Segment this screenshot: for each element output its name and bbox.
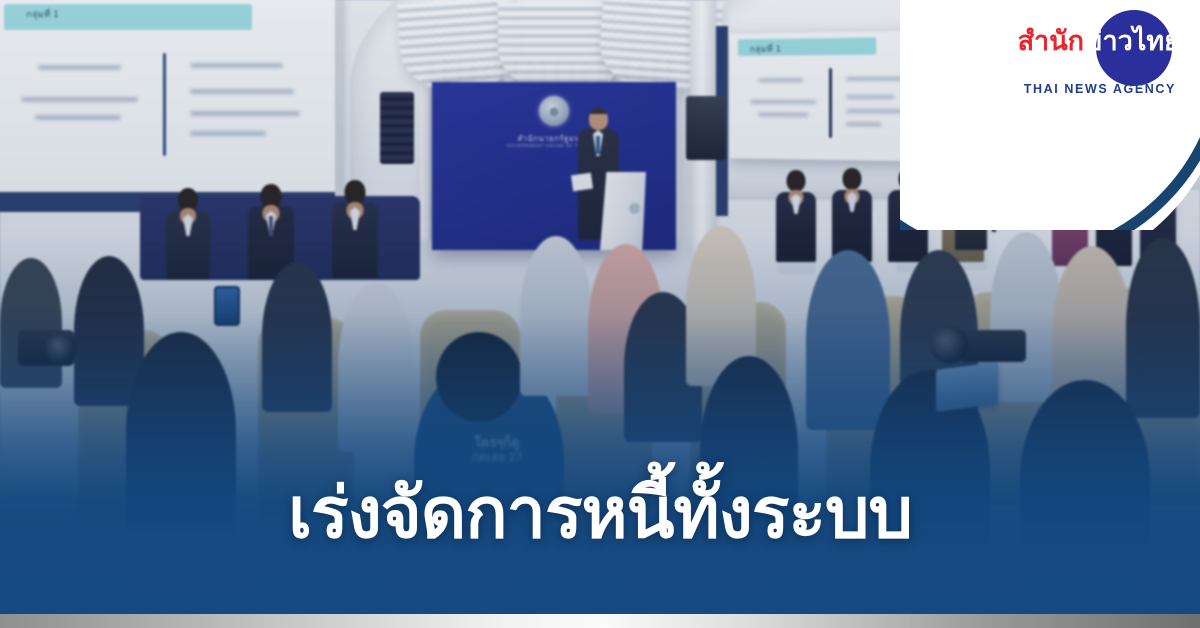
logo-english-text: THAI NEWS AGENCY xyxy=(1010,82,1176,96)
camera-lens-icon xyxy=(930,326,968,364)
stage-monitor xyxy=(686,96,726,160)
slide-text-line xyxy=(190,63,283,68)
audience-person xyxy=(262,262,332,412)
slide-title-right: กลุ่มที่ 1 xyxy=(750,41,781,55)
slide-divider xyxy=(163,53,166,156)
slide-text-line xyxy=(38,65,121,70)
panel-member xyxy=(166,188,210,280)
headline-text: เร่งจัดการหนี้ทั้งระบบ xyxy=(0,457,1200,568)
projection-screen-right: กลุ่มที่ 1 xyxy=(729,30,943,162)
logo-thai-white: ข่าวไทย xyxy=(1084,26,1180,56)
slide-divider xyxy=(829,68,832,138)
thai-news-agency-logo[interactable]: สำนักข่าวไทย THAI NEWS AGENCY xyxy=(1010,8,1186,100)
slide-text-line xyxy=(190,111,300,116)
bottom-bar xyxy=(0,614,1200,628)
slide-text-line xyxy=(846,122,881,126)
slide-text-line xyxy=(846,109,912,113)
dslr-camera xyxy=(960,330,1026,362)
projection-screen-left: กลุ่มที่ 1 xyxy=(0,0,335,192)
slide-text-line xyxy=(21,97,138,102)
slide-text-line xyxy=(758,78,804,82)
audience-person xyxy=(1126,238,1200,418)
camera-lens-icon xyxy=(46,334,76,364)
audience-person xyxy=(520,236,592,396)
podium xyxy=(600,172,646,250)
panel-member xyxy=(332,180,378,278)
slide-text-line xyxy=(750,100,817,104)
logo-thai-text: สำนักข่าวไทย xyxy=(1010,28,1180,55)
audience-person xyxy=(338,282,414,452)
tv-camera xyxy=(980,142,1014,164)
smartphone xyxy=(214,286,240,326)
laptop xyxy=(936,362,998,412)
tshirt-line-1: ใครๆก็ดู xyxy=(432,436,562,451)
audience-person xyxy=(0,258,62,388)
slide-text-line xyxy=(758,112,808,116)
slide-text-line xyxy=(190,131,266,136)
slide-text-line xyxy=(846,76,903,80)
panel-member xyxy=(776,170,816,262)
logo-thai-red: สำนัก xyxy=(1018,26,1084,56)
slide-title-left: กลุ่มที่ 1 xyxy=(26,7,59,21)
slide-text-line xyxy=(35,115,121,120)
backdrop-english-label: GOVERNMENT HOUSE OF THAILAND xyxy=(432,143,676,148)
slide-title-band: กลุ่มที่ 1 xyxy=(4,4,252,30)
tripod-leg xyxy=(992,162,996,232)
audience-head xyxy=(436,332,522,422)
panel-member xyxy=(888,168,928,262)
audience-person xyxy=(806,250,890,430)
slide-text-line xyxy=(190,89,294,94)
news-banner: กลุ่มที่ 1 กลุ่มที่ 1 xyxy=(0,0,1200,628)
slide-title-band: กลุ่มที่ 1 xyxy=(737,38,876,56)
slide-text-line xyxy=(846,95,894,99)
panel-member xyxy=(832,168,872,262)
government-emblem-icon xyxy=(539,96,569,126)
stage-speaker-box xyxy=(380,92,414,164)
